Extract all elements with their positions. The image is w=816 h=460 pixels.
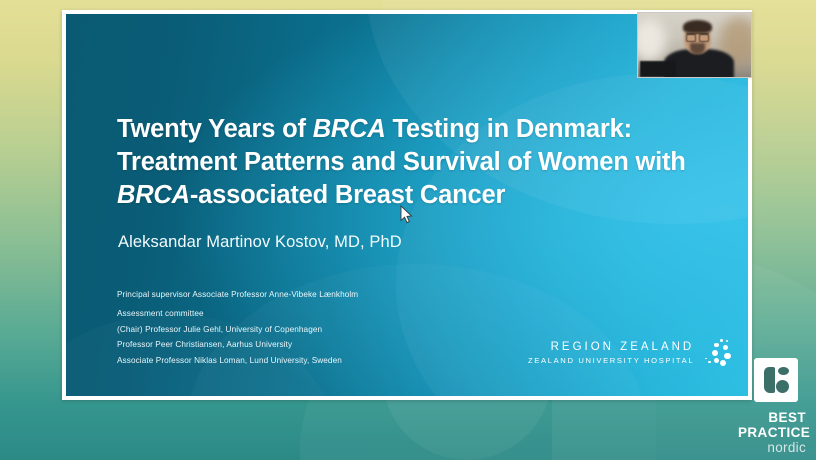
logo-dot-shape [776,380,789,393]
watermark-line-best: BEST [738,410,806,425]
presentation-viewer: Twenty Years of BRCA Testing in Denmark:… [0,0,816,460]
logo-bar-shape [764,367,775,393]
logo-dot-top-shape [778,367,789,375]
webcam-laptop [640,61,676,77]
watermark-line-practice: PRACTICE [738,425,806,440]
title-text: -associated Breast Cancer [190,181,505,209]
presenter-webcam-feed[interactable] [637,12,752,78]
region-zealand-logo: REGION ZEALAND ZEALAND UNIVERSITY HOSPIT… [528,338,733,368]
credit-line: Assessment committee [117,309,517,320]
slide-author: Aleksandar Martinov Kostov, MD, PhD [118,233,402,252]
webcam-presenter-glasses [686,33,709,40]
region-zealand-subtitle: ZEALAND UNIVERSITY HOSPITAL [528,356,694,366]
webcam-presenter-beard [690,43,705,54]
slide-credits-block: Principal supervisor Associate Professor… [117,290,517,372]
watermark-line-nordic: nordic [738,440,806,456]
webcam-presenter-hair [683,20,712,33]
slide-title: Twenty Years of BRCA Testing in Denmark:… [117,113,717,212]
region-zealand-name: REGION ZEALAND [528,340,694,354]
region-zealand-logo-text: REGION ZEALAND ZEALAND UNIVERSITY HOSPIT… [528,340,694,367]
title-gene-name: BRCA [117,181,190,209]
best-practice-nordic-logo-icon [754,358,798,402]
title-text: Twenty Years of [117,115,313,143]
region-zealand-dot-cluster-icon [703,338,733,368]
credit-line: Associate Professor Niklas Loman, Lund U… [117,356,517,367]
best-practice-nordic-watermark: BEST PRACTICE nordic [738,358,810,456]
title-gene-name: BRCA [313,115,386,143]
credit-line: (Chair) Professor Julie Gehl, University… [117,325,517,336]
credit-line: Principal supervisor Associate Professor… [117,290,517,301]
credit-line: Professor Peer Christiansen, Aarhus Univ… [117,340,517,351]
